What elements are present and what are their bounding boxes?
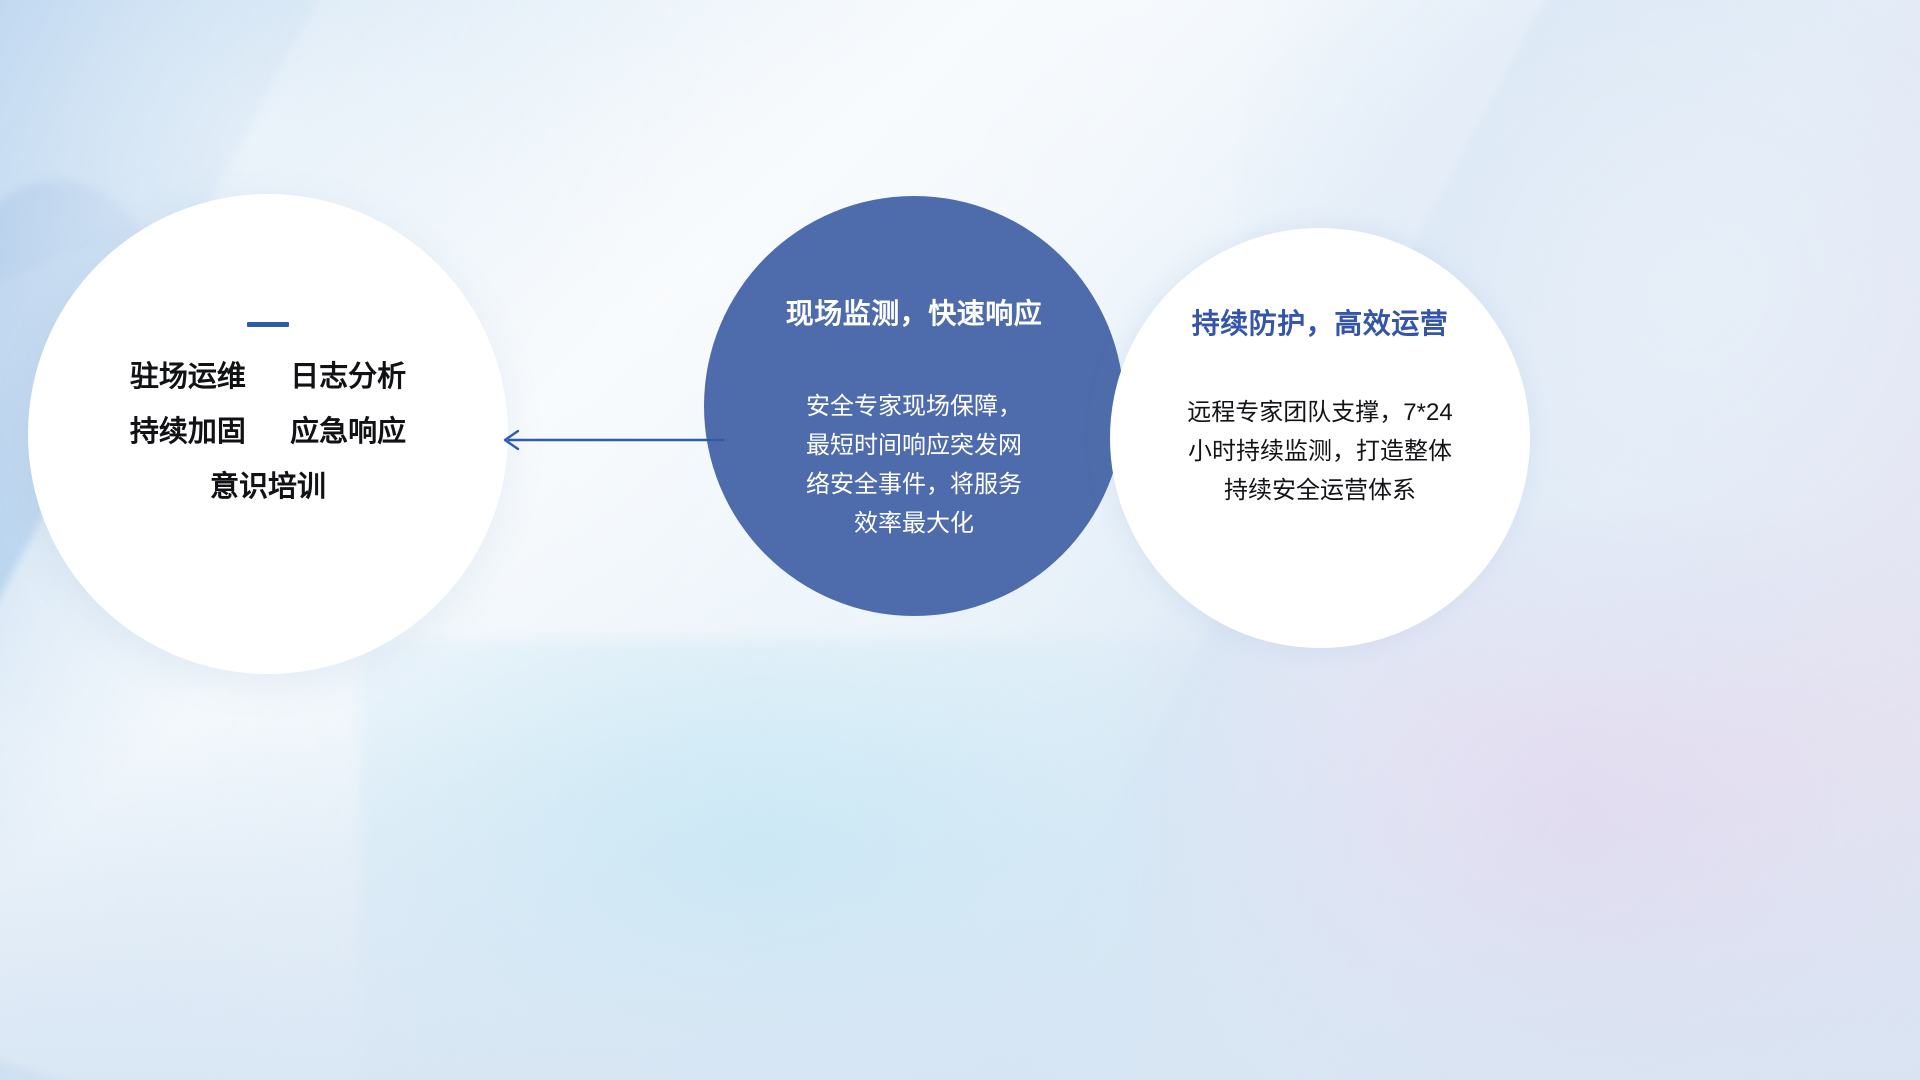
dash-divider-icon (247, 322, 289, 327)
flow-arrow-icon (496, 424, 726, 456)
capability-label: 驻场运维 (130, 361, 246, 393)
body-line: 安全专家现场保障， (764, 388, 1064, 427)
service-capability-list: 驻场运维 日志分析 持续加固 应急响应 意识培训 (130, 363, 406, 502)
continuous-protection-body: 远程专家团队支撑，7*24 小时持续监测，打造整体 持续安全运营体系 (1140, 394, 1500, 511)
onsite-monitoring-title: 现场监测，快速响应 (786, 292, 1043, 332)
onsite-monitoring-body: 安全专家现场保障， 最短时间响应突发网 络安全事件，将服务 效率最大化 (764, 388, 1064, 544)
body-line: 小时持续监测，打造整体 (1140, 433, 1500, 472)
body-line: 持续安全运营体系 (1140, 472, 1500, 511)
background-bottom-fade (0, 720, 1920, 1080)
body-line: 效率最大化 (764, 505, 1064, 544)
list-item: 持续加固 应急响应 (130, 418, 406, 447)
body-line: 络安全事件，将服务 (764, 466, 1064, 505)
slide-canvas: 现场监测，快速响应 安全专家现场保障， 最短时间响应突发网 络安全事件，将服务 … (0, 0, 1920, 1080)
body-line: 最短时间响应突发网 (764, 427, 1064, 466)
list-item: 驻场运维 日志分析 (130, 363, 406, 392)
capability-label: 日志分析 (290, 361, 406, 393)
card-service-capabilities[interactable]: 驻场运维 日志分析 持续加固 应急响应 意识培训 (28, 194, 508, 674)
list-item: 意识培训 (130, 473, 406, 502)
card-onsite-monitoring[interactable]: 现场监测，快速响应 安全专家现场保障， 最短时间响应突发网 络安全事件，将服务 … (704, 196, 1124, 616)
capability-label: 持续加固 (130, 416, 246, 448)
capability-label: 意识培训 (210, 471, 326, 503)
card-continuous-protection[interactable]: 持续防护，高效运营 远程专家团队支撑，7*24 小时持续监测，打造整体 持续安全… (1110, 228, 1530, 648)
capability-label: 应急响应 (290, 416, 406, 448)
continuous-protection-title: 持续防护，高效运营 (1192, 302, 1449, 342)
body-line: 远程专家团队支撑，7*24 (1140, 394, 1500, 433)
